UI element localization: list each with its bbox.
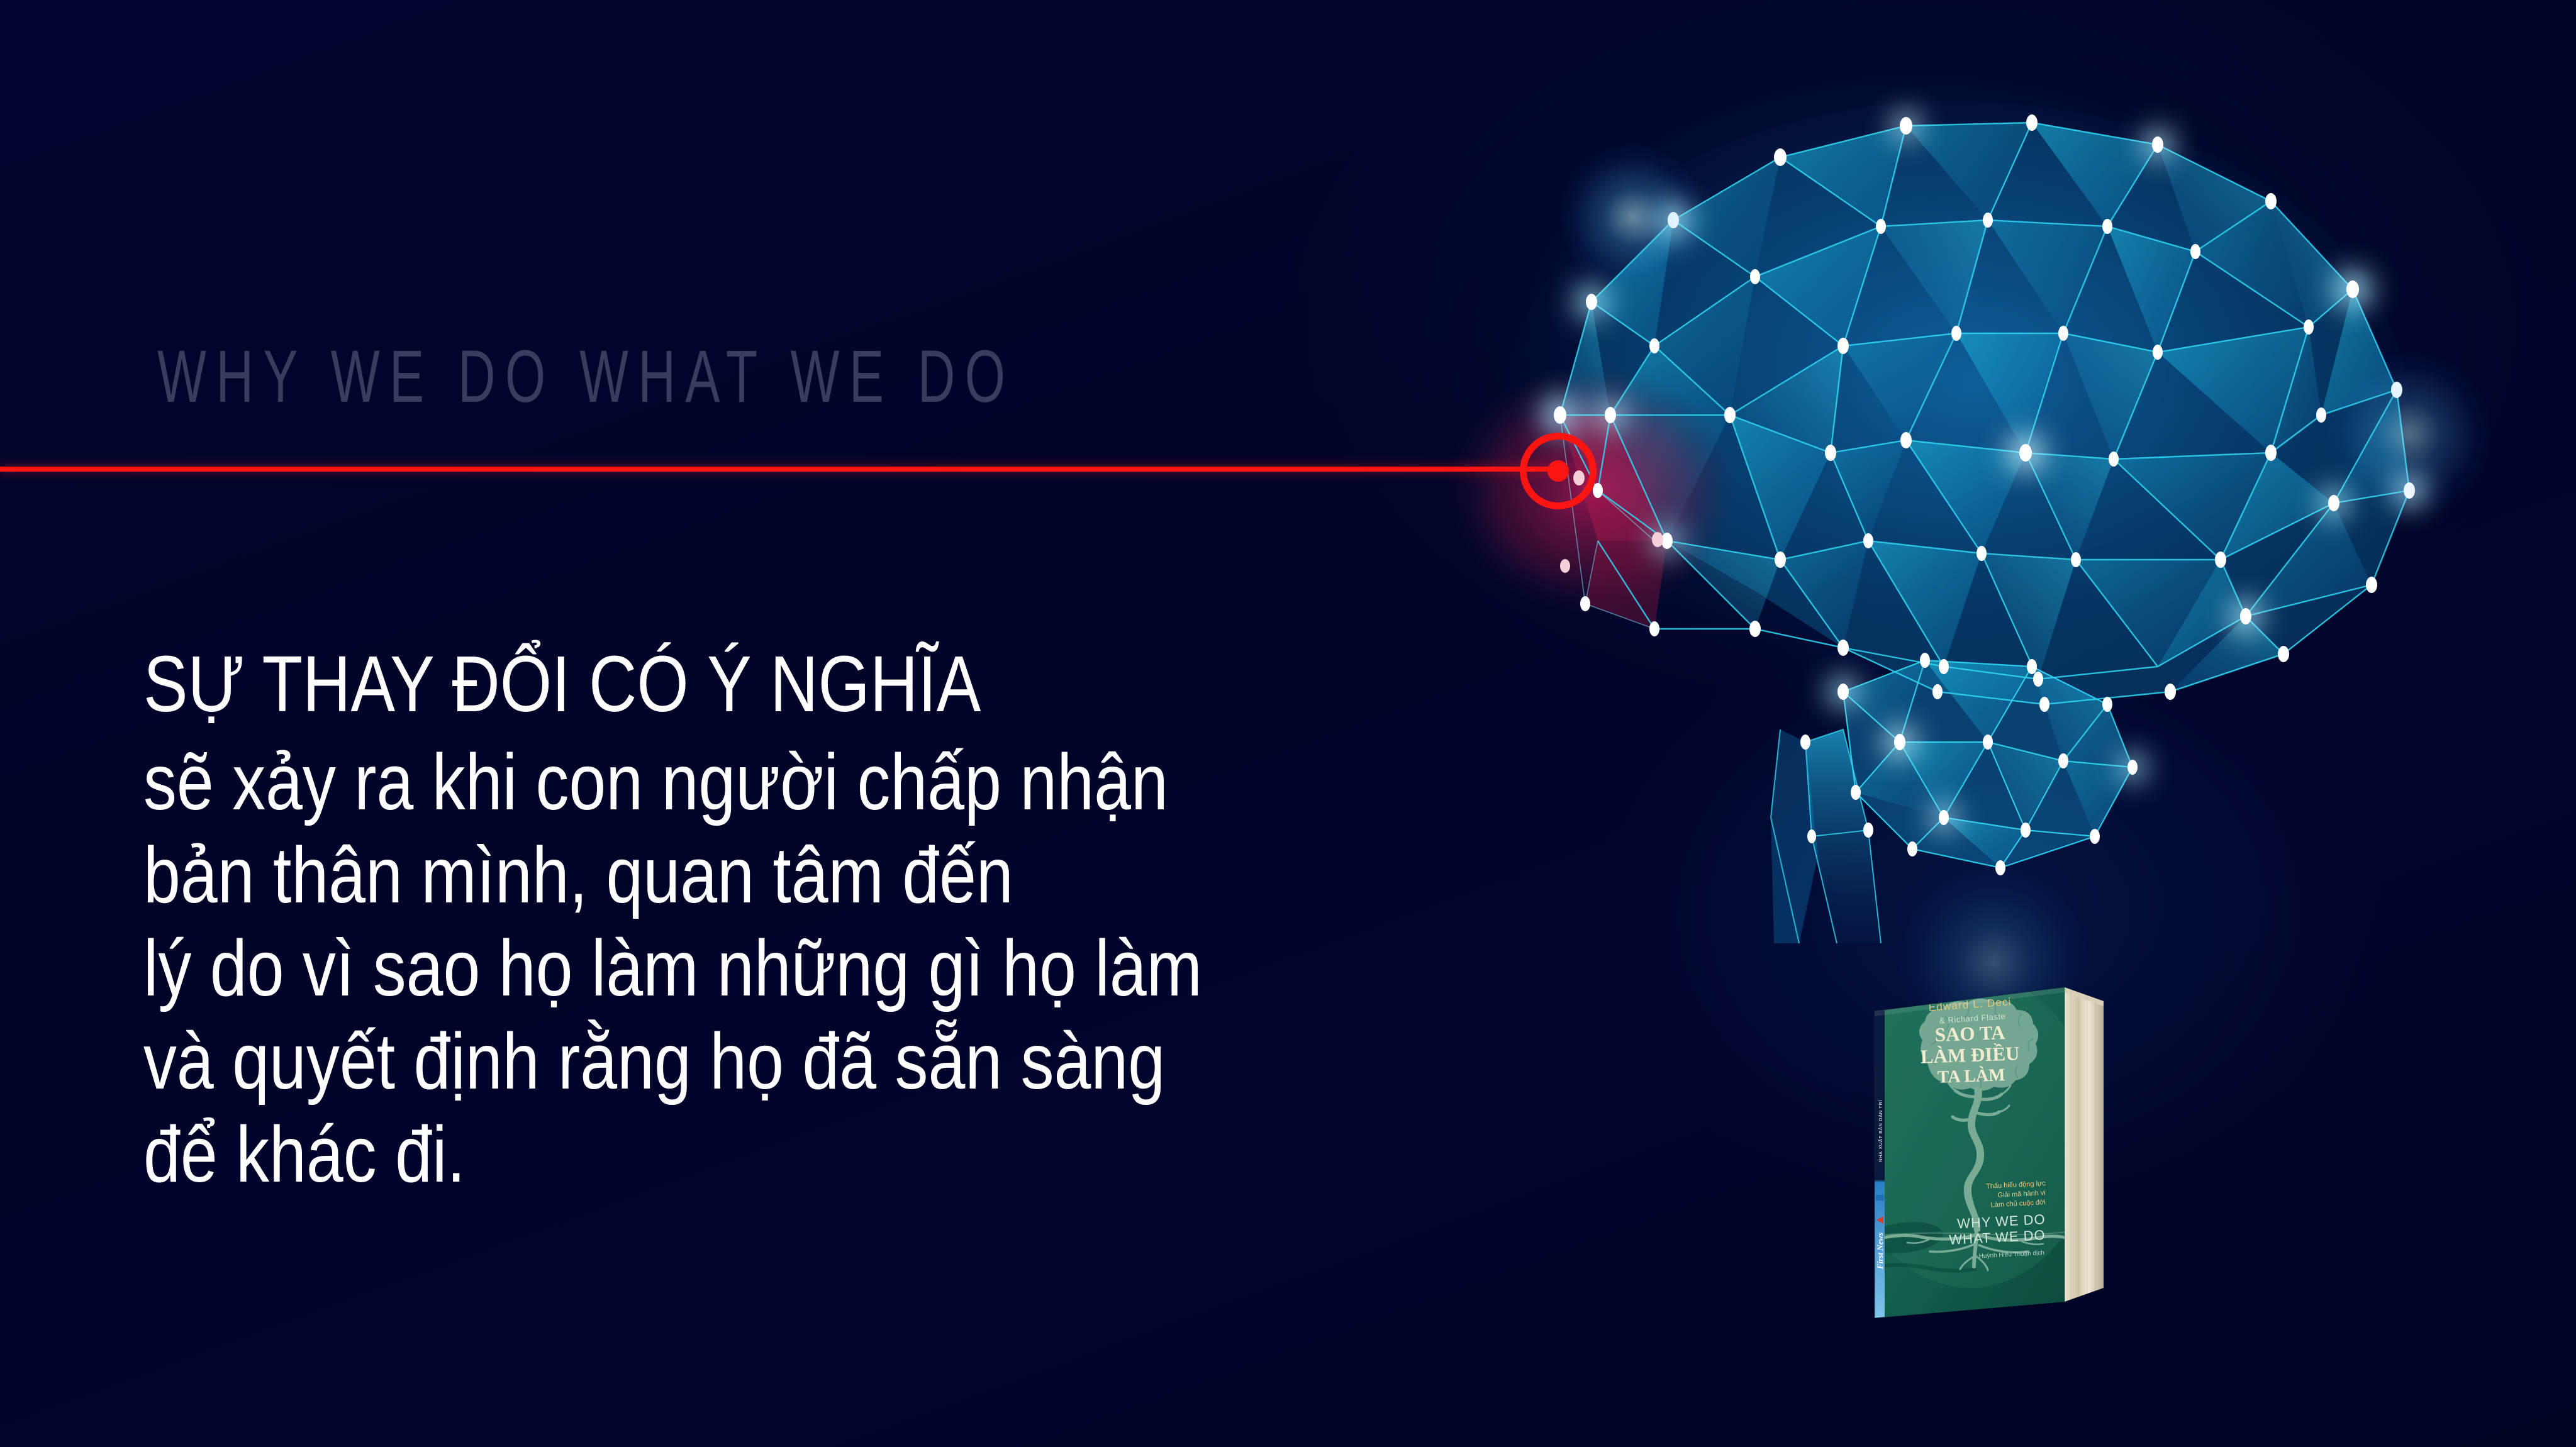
quote-line: bản thân mình, quan tâm đến	[143, 836, 1422, 915]
quote-line: sẽ xảy ra khi con người chấp nhận	[143, 743, 1422, 822]
red-target-marker-icon	[1520, 433, 1597, 509]
book-title-line: TA LÀM	[1937, 1065, 2005, 1087]
book-cover-3d: SAO TA LÀM ĐIỀU TA LÀM Edward L. Deci & …	[1857, 973, 2121, 1335]
quote-line: lý do vì sao họ làm những gì họ làm	[143, 929, 1422, 1008]
slide-canvas: WHY WE DO WHAT WE DO SỰ THAY ĐỔI CÓ Ý NG…	[0, 0, 2576, 1447]
quote-line: SỰ THAY ĐỔI CÓ Ý NGHĨA	[143, 645, 1422, 724]
quote-line: và quyết định rằng họ đã sẵn sàng	[143, 1022, 1422, 1101]
quote-line: để khác đi.	[143, 1115, 1422, 1194]
book-spine-publisher: NHÀ XUẤT BẢN DÂN TRÍ	[1877, 1099, 1883, 1162]
red-accent-line	[0, 467, 1566, 472]
page-kicker: WHY WE DO WHAT WE DO	[157, 340, 1015, 414]
low-poly-brain-graphic	[1403, 63, 2510, 956]
quote-block: SỰ THAY ĐỔI CÓ Ý NGHĨA sẽ xảy ra khi con…	[143, 645, 1422, 1208]
book-spine-imprint: First News	[1875, 1233, 1885, 1270]
book-title-line: LÀM ĐIỀU	[1920, 1041, 2020, 1067]
